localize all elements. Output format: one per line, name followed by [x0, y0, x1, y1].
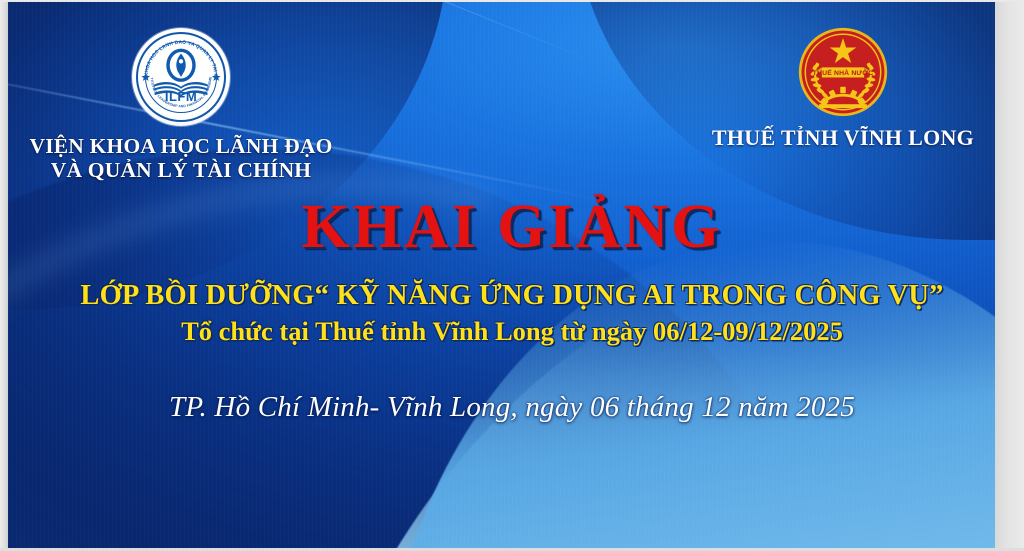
ilfm-institute-logo-icon: VIEN KHOA HOC LANH DAO VA QUAN LY TAI CH…	[132, 28, 230, 126]
slide-border-right	[995, 0, 1024, 551]
right-organization-name: THUẾ TỈNH VĨNH LONG	[698, 125, 988, 151]
logo-acronym-text: ILFM	[132, 89, 230, 104]
headline-block: KHAI GIẢNG LỚP BỒI DƯỠNG“ KỸ NĂNG ỨNG DỤ…	[0, 196, 1024, 347]
left-organization-name: VIỆN KHOA HỌC LÃNH ĐẠO VÀ QUẢN LÝ TÀI CH…	[16, 134, 346, 182]
course-schedule-line: Tổ chức tại Thuế tỉnh Vĩnh Long từ ngày …	[0, 316, 1024, 347]
vietnam-tax-emblem-icon: THUẾ NHÀ NƯỚC	[797, 26, 889, 118]
main-title: KHAI GIẢNG	[0, 196, 1024, 258]
course-title-line: LỚP BỒI DƯỠNG“ KỸ NĂNG ỨNG DỤNG AI TRONG…	[0, 280, 1024, 312]
slide-border-top	[0, 0, 1024, 2]
right-organization-block: THUẾ NHÀ NƯỚC THUẾ TỈNH VĨNH LONG	[698, 26, 988, 151]
left-organization-block: VIEN KHOA HOC LANH DAO VA QUAN LY TAI CH…	[16, 28, 346, 182]
slide-border-left	[0, 0, 8, 551]
presentation-slide: VIEN KHOA HOC LANH DAO VA QUAN LY TAI CH…	[0, 0, 1024, 551]
place-and-date: TP. Hồ Chí Minh- Vĩnh Long, ngày 06 thán…	[0, 391, 1024, 424]
